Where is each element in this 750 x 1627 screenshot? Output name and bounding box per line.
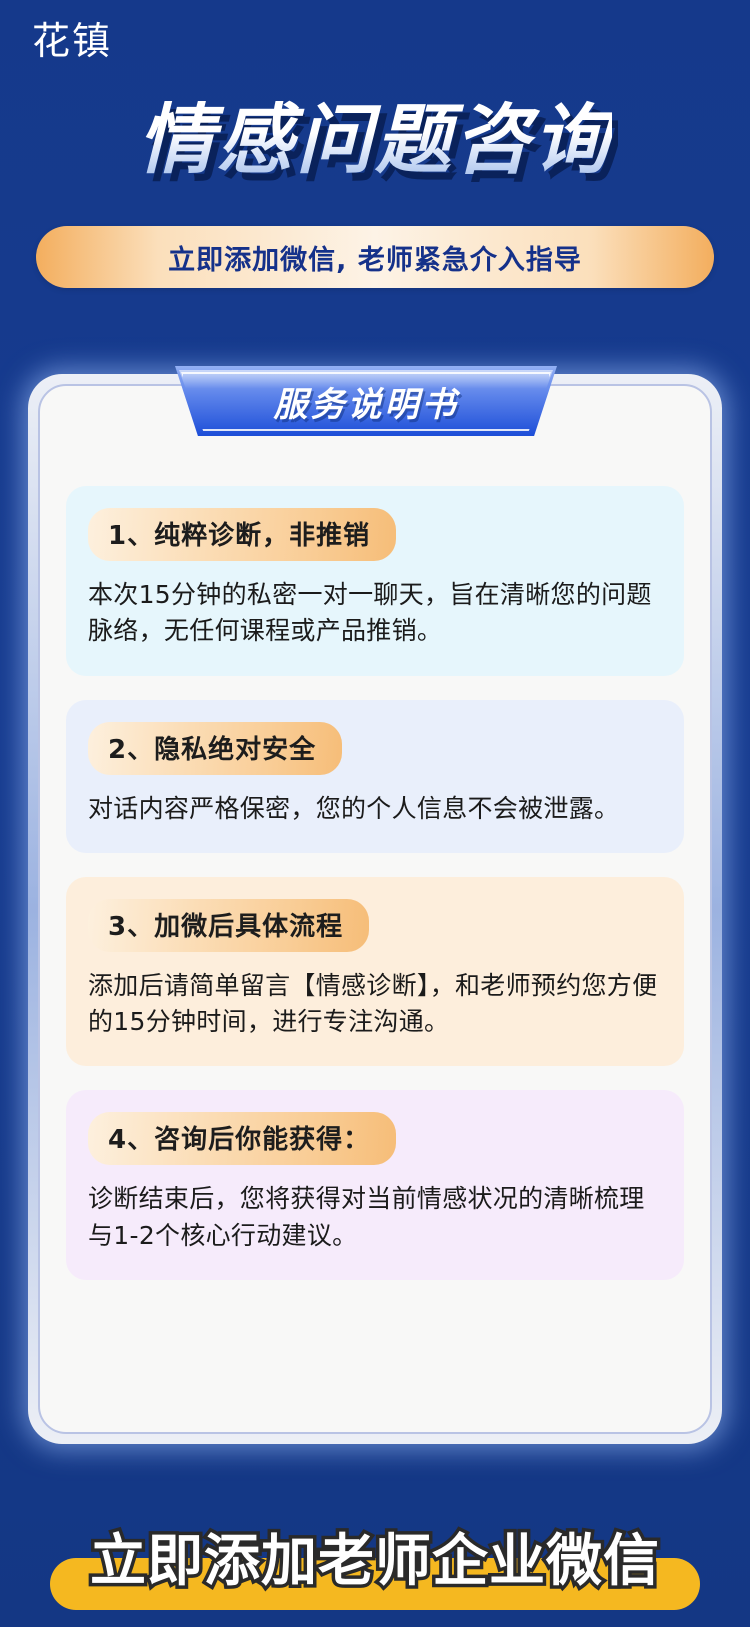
section-3-badge: 3、加微后具体流程: [88, 899, 369, 952]
page-title-wrap: 情感问题咨询: [0, 100, 750, 179]
section-2-body: 对话内容严格保密，您的个人信息不会被泄露。: [88, 791, 662, 827]
subtitle-pill-label: 立即添加微信, 老师紧急介入指导: [168, 238, 582, 277]
service-section-4: 4、咨询后你能获得： 诊断结束后，您将获得对当前情感状况的清晰梳理与1-2个核心…: [66, 1090, 684, 1280]
service-section-1: 1、纯粹诊断，非推销 本次15分钟的私密一对一聊天，旨在清晰您的问题脉络，无任何…: [66, 486, 684, 676]
section-2-badge: 2、隐私绝对安全: [88, 722, 342, 775]
brand-logo: 花镇: [32, 22, 112, 60]
service-section-3: 3、加微后具体流程 添加后请简单留言【情感诊断】，和老师预约您方便的15分钟时间…: [66, 877, 684, 1067]
section-3-body: 添加后请简单留言【情感诊断】，和老师预约您方便的15分钟时间，进行专注沟通。: [88, 968, 662, 1041]
poster-root: 花镇 情感问题咨询 立即添加微信, 老师紧急介入指导 服务说明书 1、纯粹诊断，…: [0, 0, 750, 1627]
page-title: 情感问题咨询: [138, 100, 612, 179]
subtitle-pill[interactable]: 立即添加微信, 老师紧急介入指导: [36, 226, 714, 288]
section-4-body: 诊断结束后，您将获得对当前情感状况的清晰梳理与1-2个核心行动建议。: [88, 1181, 662, 1254]
section-1-badge: 1、纯粹诊断，非推销: [88, 508, 396, 561]
cta-label[interactable]: 立即添加老师企业微信: [0, 1516, 750, 1597]
service-sections: 1、纯粹诊断，非推销 本次15分钟的私密一对一聊天，旨在清晰您的问题脉络，无任何…: [38, 384, 712, 1434]
service-section-2: 2、隐私绝对安全 对话内容严格保密，您的个人信息不会被泄露。: [66, 700, 684, 853]
section-4-badge: 4、咨询后你能获得：: [88, 1112, 396, 1165]
section-1-body: 本次15分钟的私密一对一聊天，旨在清晰您的问题脉络，无任何课程或产品推销。: [88, 577, 662, 650]
